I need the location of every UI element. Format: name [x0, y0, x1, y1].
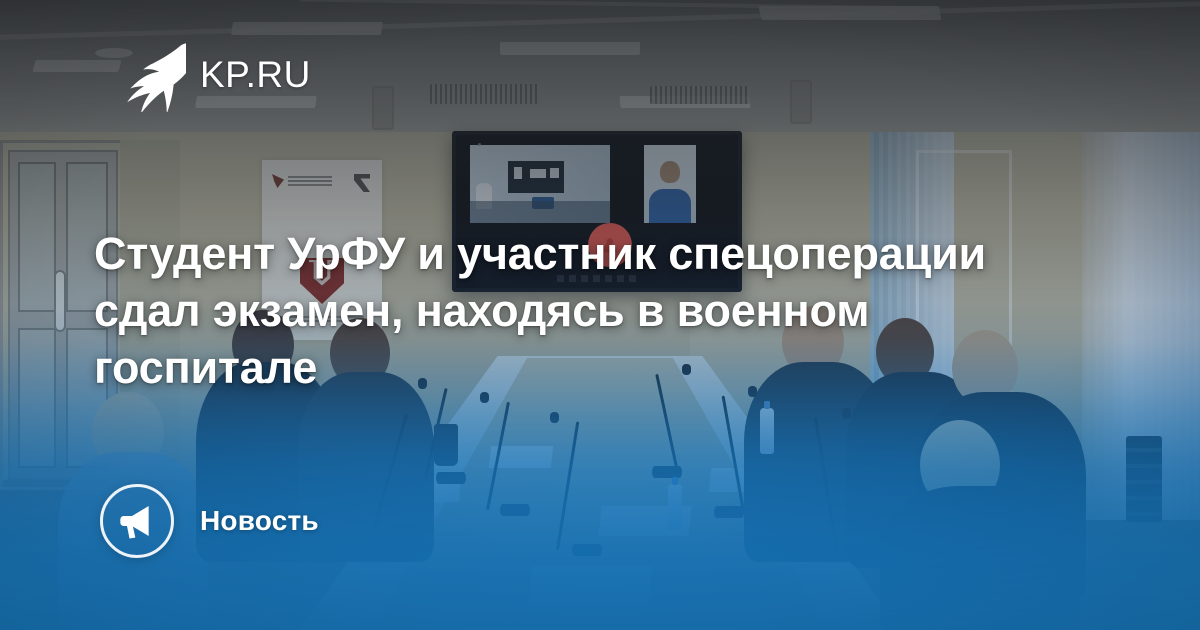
- status-badge[interactable]: Новость: [100, 484, 319, 558]
- badge-label: Новость: [200, 505, 319, 537]
- swallow-bird-icon: [108, 36, 186, 112]
- page-title: Студент УрФУ и участник спецоперации сда…: [94, 226, 994, 396]
- brand-name: KP.RU: [200, 56, 311, 93]
- badge-circle: [100, 484, 174, 558]
- megaphone-icon: [117, 501, 157, 541]
- brand-logo[interactable]: KP.RU: [108, 36, 311, 112]
- news-share-card: KP.RU Студент УрФУ и участник спецоперац…: [0, 0, 1200, 630]
